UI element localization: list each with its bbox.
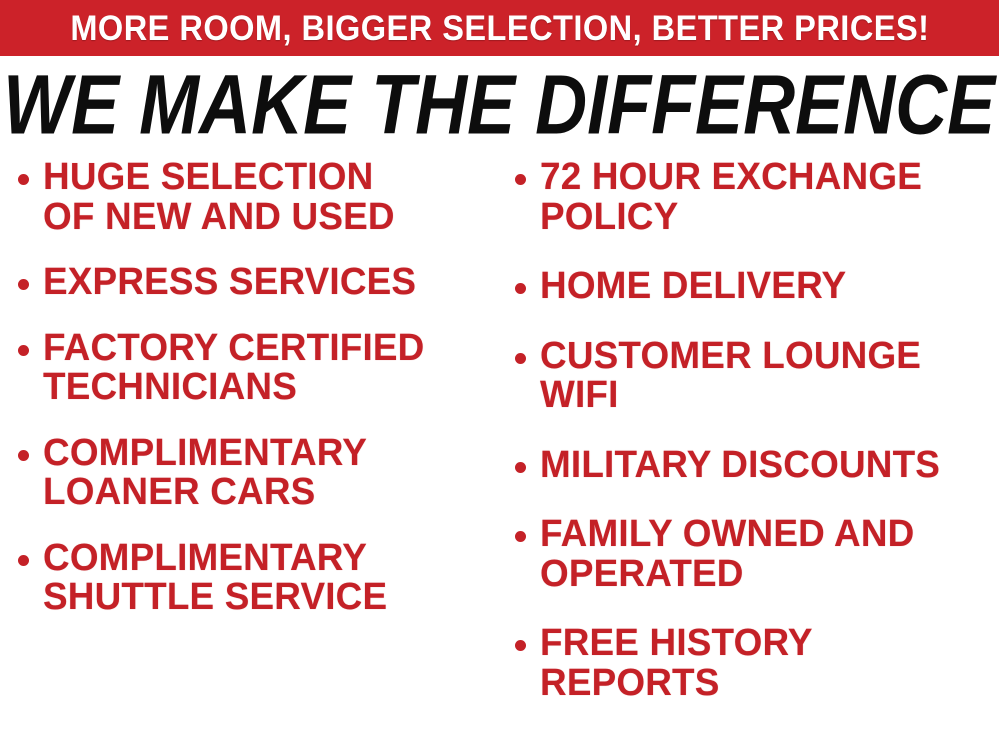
page-title: WE MAKE THE DIFFERENCE (4, 63, 996, 147)
bullet-dot-icon (515, 531, 526, 542)
bullet-dot-icon (515, 283, 526, 294)
bullet-dot-icon (18, 174, 29, 185)
list-item-label: HOME DELIVERY (540, 267, 846, 307)
features-columns: HUGE SELECTION OF NEW AND USED EXPRESS S… (0, 158, 999, 692)
list-item-label: FREE HISTORY REPORTS (540, 624, 813, 703)
list-item-label: FACTORY CERTIFIED TECHNICIANS (43, 329, 424, 408)
list-item-label: CUSTOMER LOUNGE WIFI (540, 337, 921, 416)
bullet-dot-icon (515, 174, 526, 185)
list-item: COMPLIMENTARY SHUTTLE SERVICE (18, 539, 498, 618)
promo-banner: MORE ROOM, BIGGER SELECTION, BETTER PRIC… (0, 0, 999, 56)
list-item: HUGE SELECTION OF NEW AND USED (18, 158, 498, 237)
list-item: HOME DELIVERY (515, 267, 999, 307)
list-item: FAMILY OWNED AND OPERATED (515, 515, 999, 594)
features-column-left: HUGE SELECTION OF NEW AND USED EXPRESS S… (18, 158, 498, 644)
list-item: 72 HOUR EXCHANGE POLICY (515, 158, 999, 237)
features-column-right: 72 HOUR EXCHANGE POLICY HOME DELIVERY CU… (515, 158, 999, 733)
bullet-dot-icon (515, 640, 526, 651)
list-item-label: EXPRESS SERVICES (43, 263, 416, 303)
bullet-dot-icon (18, 450, 29, 461)
list-item-label: 72 HOUR EXCHANGE POLICY (540, 158, 922, 237)
bullet-dot-icon (515, 462, 526, 473)
list-item-label: COMPLIMENTARY SHUTTLE SERVICE (43, 539, 387, 618)
list-item: FACTORY CERTIFIED TECHNICIANS (18, 329, 498, 408)
list-item: MILITARY DISCOUNTS (515, 446, 999, 486)
list-item-label: COMPLIMENTARY LOANER CARS (43, 434, 367, 513)
list-item-label: FAMILY OWNED AND OPERATED (540, 515, 914, 594)
list-item: COMPLIMENTARY LOANER CARS (18, 434, 498, 513)
list-item: FREE HISTORY REPORTS (515, 624, 999, 703)
bullet-dot-icon (18, 555, 29, 566)
list-item: EXPRESS SERVICES (18, 263, 498, 303)
promo-banner-text: MORE ROOM, BIGGER SELECTION, BETTER PRIC… (70, 11, 929, 46)
list-item: CUSTOMER LOUNGE WIFI (515, 337, 999, 416)
list-item-label: MILITARY DISCOUNTS (540, 446, 940, 486)
bullet-dot-icon (515, 353, 526, 364)
list-item-label: HUGE SELECTION OF NEW AND USED (43, 158, 395, 237)
bullet-dot-icon (18, 279, 29, 290)
bullet-dot-icon (18, 345, 29, 356)
headline-container: WE MAKE THE DIFFERENCE (0, 63, 999, 147)
